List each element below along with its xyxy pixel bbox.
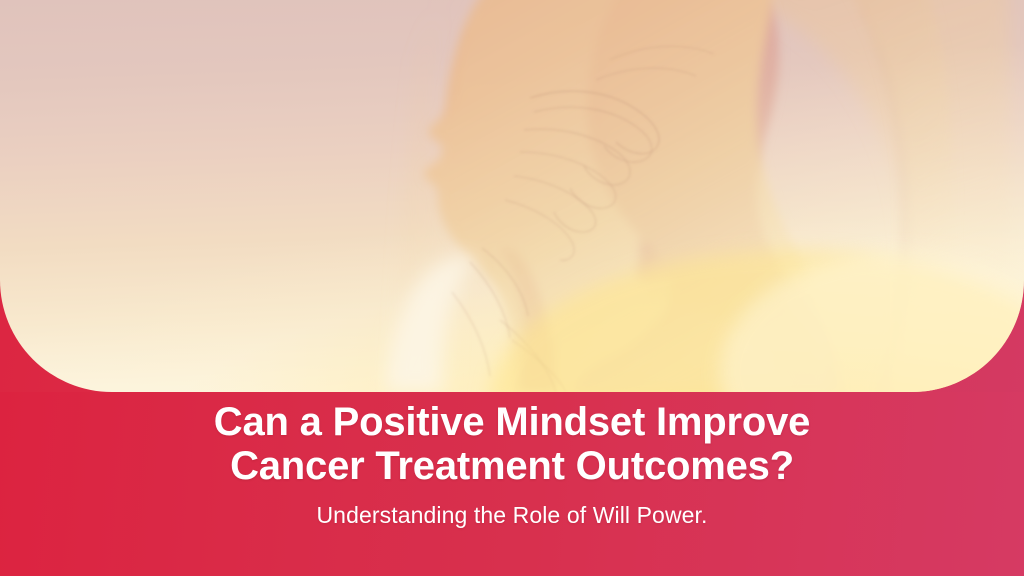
hero-image xyxy=(0,0,1024,392)
headline-line-2: Cancer Treatment Outcomes? xyxy=(40,444,984,488)
poster-canvas: Can a Positive Mindset Improve Cancer Tr… xyxy=(0,0,1024,576)
light-wedge xyxy=(386,257,476,392)
subtitle: Understanding the Role of Will Power. xyxy=(40,500,984,530)
headline-line-1: Can a Positive Mindset Improve xyxy=(40,400,984,444)
caption-block: Can a Positive Mindset Improve Cancer Tr… xyxy=(0,400,1024,530)
silhouette-artwork xyxy=(0,0,1024,392)
